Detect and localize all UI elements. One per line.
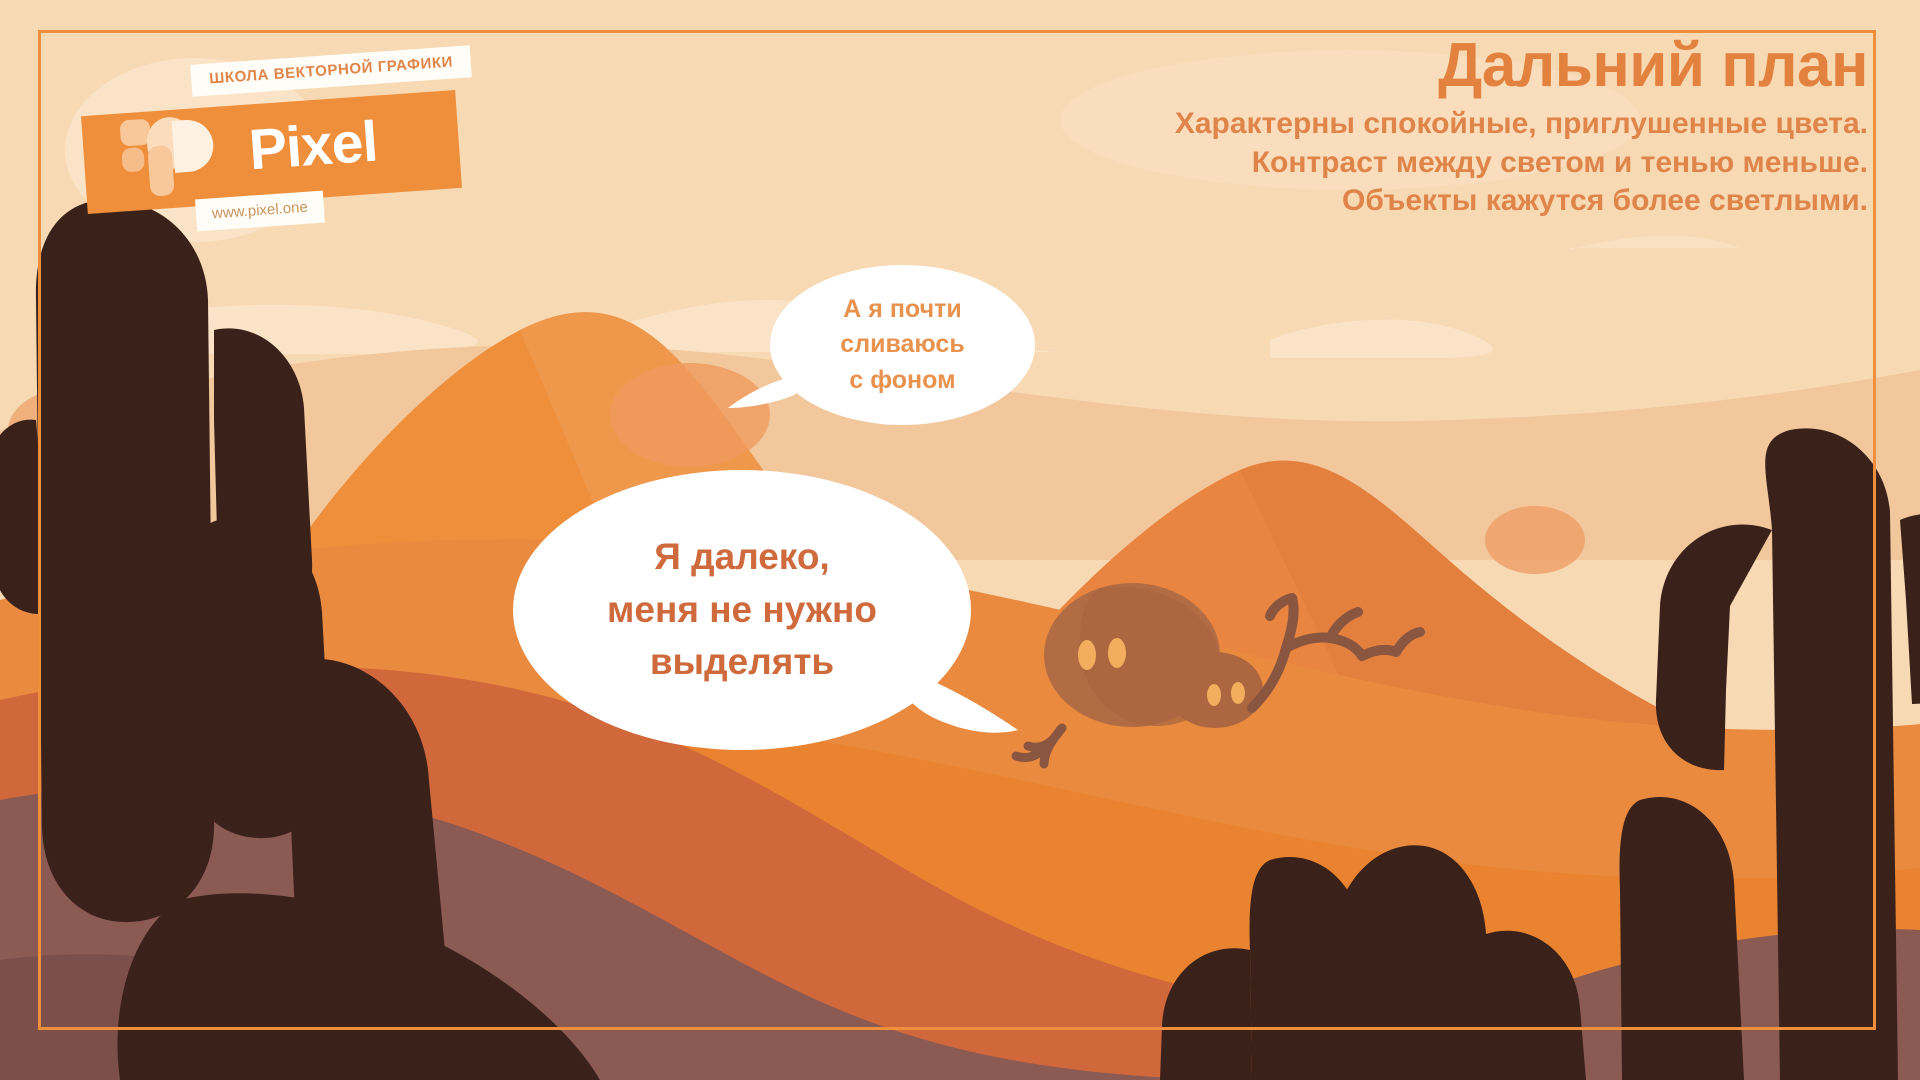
creature-spot-1 <box>1078 640 1096 670</box>
subtitle-line-1: Характерны спокойные, приглушенные цвета… <box>1175 105 1868 143</box>
cactus-left-trunk <box>36 200 214 922</box>
bubble-large-line-3: выделять <box>607 636 877 689</box>
pixel-logo-icon <box>115 111 230 200</box>
bubble-small-line-3: с фоном <box>840 363 964 399</box>
speech-bubble-large: Я далеко, меня не нужно выделять <box>513 470 971 750</box>
bubble-small-line-2: сливаюсь <box>840 327 964 363</box>
header-block: Дальний план Характерны спокойные, пригл… <box>1175 34 1868 220</box>
creature-spot-2 <box>1108 638 1126 668</box>
speech-bubble-small: А я почти сливаюсь с фоном <box>770 265 1035 425</box>
creature-eye-2 <box>1231 682 1245 704</box>
dune-bump-right <box>1485 506 1585 574</box>
slide-canvas: Pixel ШКОЛА ВЕКТОРНОЙ ГРАФИКИ www.pixel.… <box>0 0 1920 1080</box>
creature-eye-1 <box>1207 684 1221 706</box>
brand-logo[interactable]: Pixel ШКОЛА ВЕКТОРНОЙ ГРАФИКИ www.pixel.… <box>84 55 504 245</box>
cactus-left-arm-upper <box>0 420 44 615</box>
subtitle-line-2: Контраст между светом и тенью меньше. <box>1175 144 1868 182</box>
subtitle-block: Характерны спокойные, приглушенные цвета… <box>1175 105 1868 220</box>
page-title: Дальний план <box>1175 34 1868 97</box>
bubble-large-text: Я далеко, меня не нужно выделять <box>607 531 877 689</box>
subtitle-line-3: Объекты кажутся более светлыми. <box>1175 182 1868 220</box>
bubble-small-text: А я почти сливаюсь с фоном <box>840 292 964 399</box>
cactus-right-trunk <box>1765 428 1898 1080</box>
bubble-small-line-1: А я почти <box>840 292 964 328</box>
logo-wordmark: Pixel <box>247 109 379 184</box>
bubble-large-line-2: меня не нужно <box>607 584 877 637</box>
bubble-large-line-1: Я далеко, <box>607 531 877 584</box>
